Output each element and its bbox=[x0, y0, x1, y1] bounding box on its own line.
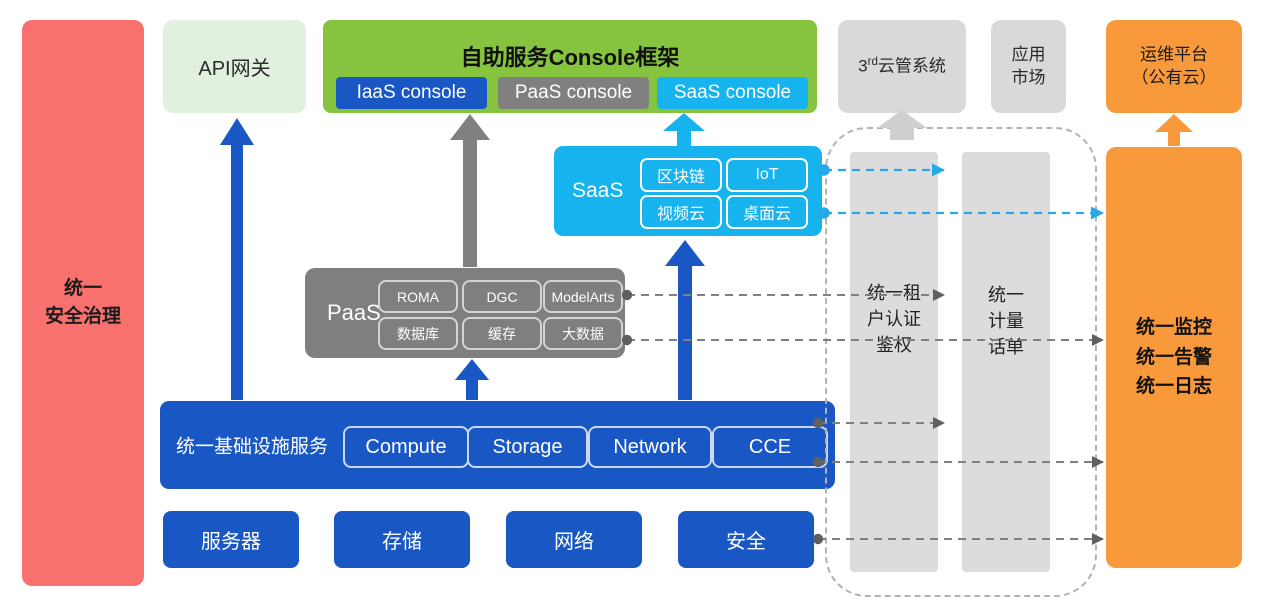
governance-line-1: 统一 bbox=[64, 275, 102, 303]
saas-console-label: SaaS console bbox=[674, 82, 791, 104]
third-party-superscript: rd bbox=[868, 56, 878, 68]
infrastructure-label: 统一基础设施服务 bbox=[176, 432, 328, 459]
third-party-cloud-mgmt-box[interactable]: 3rd云管系统 bbox=[838, 20, 966, 113]
paas-chip-bigdata-label: 大数据 bbox=[562, 324, 604, 344]
unified-billing-text: 统一 计量 话单 bbox=[962, 282, 1050, 360]
auth-line-3: 鉴权 bbox=[850, 332, 938, 358]
billing-line-2: 计量 bbox=[962, 308, 1050, 334]
infra-chip-compute-label: Compute bbox=[365, 436, 446, 459]
resource-box-security[interactable]: 安全 bbox=[678, 511, 814, 568]
monitoring-line-3: 统一日志 bbox=[1136, 372, 1212, 401]
resource-network-label: 网络 bbox=[554, 525, 594, 554]
unified-monitoring-column[interactable]: 统一监控 统一告警 统一日志 bbox=[1106, 147, 1242, 568]
resource-security-label: 安全 bbox=[726, 525, 766, 554]
saas-chip-desktopcloud[interactable]: 桌面云 bbox=[726, 195, 808, 229]
arrow-monitoring-to-ops-platform bbox=[1155, 114, 1193, 146]
paas-chip-modelarts-label: ModelArts bbox=[551, 289, 614, 305]
saas-chip-desktopcloud-label: 桌面云 bbox=[743, 200, 791, 224]
paas-console-label: PaaS console bbox=[515, 82, 632, 104]
infra-chip-network[interactable]: Network bbox=[588, 426, 712, 468]
infra-chip-compute[interactable]: Compute bbox=[343, 426, 469, 468]
governance-line-2: 安全治理 bbox=[45, 303, 121, 331]
resource-server-label: 服务器 bbox=[201, 525, 261, 554]
paas-chip-modelarts[interactable]: ModelArts bbox=[543, 280, 623, 313]
saas-chip-videocloud-label: 视频云 bbox=[657, 200, 705, 224]
paas-chip-dgc[interactable]: DGC bbox=[462, 280, 542, 313]
iaas-console-chip[interactable]: IaaS console bbox=[336, 77, 487, 109]
app-market-line-1: 应用 bbox=[1012, 44, 1046, 67]
paas-box: PaaS ROMA DGC ModelArts 数据库 缓存 大数据 bbox=[305, 268, 625, 358]
saas-label: SaaS bbox=[572, 179, 623, 203]
paas-chip-database[interactable]: 数据库 bbox=[378, 317, 458, 350]
arrow-paas-to-console bbox=[450, 114, 490, 267]
infra-chip-cce[interactable]: CCE bbox=[712, 426, 828, 468]
saas-box: SaaS 区块链 IoT 视频云 桌面云 bbox=[554, 146, 822, 236]
unified-tenant-auth-text: 统一租 户认证 鉴权 bbox=[850, 280, 938, 358]
paas-chip-dgc-label: DGC bbox=[486, 289, 517, 305]
third-party-prefix: 3 bbox=[858, 56, 867, 75]
saas-chip-iot-label: IoT bbox=[755, 166, 778, 184]
infra-chip-network-label: Network bbox=[613, 436, 686, 459]
app-market-line-2: 市场 bbox=[1012, 67, 1046, 90]
api-gateway-box[interactable]: API网关 bbox=[163, 20, 306, 113]
paas-chip-bigdata[interactable]: 大数据 bbox=[543, 317, 623, 350]
unified-billing-column[interactable]: 统一 计量 话单 bbox=[962, 152, 1050, 572]
auth-line-2: 户认证 bbox=[850, 306, 938, 332]
paas-chip-cache-label: 缓存 bbox=[488, 324, 516, 344]
saas-chip-iot[interactable]: IoT bbox=[726, 158, 808, 192]
saas-console-chip[interactable]: SaaS console bbox=[657, 77, 808, 109]
ops-platform-line-1: 运维平台 bbox=[1140, 44, 1208, 67]
api-gateway-label: API网关 bbox=[198, 52, 270, 81]
ops-platform-box[interactable]: 运维平台 （公有云） bbox=[1106, 20, 1242, 113]
infra-chip-storage-label: Storage bbox=[492, 436, 562, 459]
arrow-infra-to-paas bbox=[455, 359, 489, 400]
saas-chip-blockchain-label: 区块链 bbox=[657, 163, 705, 187]
self-service-console-frame: 自助服务Console框架 IaaS console PaaS console … bbox=[323, 20, 817, 113]
resource-box-server[interactable]: 服务器 bbox=[163, 511, 299, 568]
third-party-suffix: 云管系统 bbox=[878, 56, 946, 75]
billing-line-1: 统一 bbox=[962, 282, 1050, 308]
arrow-saas-to-saas-console bbox=[663, 113, 705, 146]
paas-chip-cache[interactable]: 缓存 bbox=[462, 317, 542, 350]
arrow-infra-to-api-gateway bbox=[220, 118, 254, 400]
third-party-cloud-label: 3rd云管系统 bbox=[858, 55, 946, 79]
ops-platform-line-2: （公有云） bbox=[1132, 67, 1217, 90]
saas-chip-videocloud[interactable]: 视频云 bbox=[640, 195, 722, 229]
monitoring-line-1: 统一监控 bbox=[1136, 313, 1212, 342]
console-frame-title: 自助服务Console框架 bbox=[323, 40, 817, 72]
app-market-box[interactable]: 应用 市场 bbox=[991, 20, 1066, 113]
paas-label: PaaS bbox=[327, 300, 381, 326]
unified-security-governance-column: 统一 安全治理 bbox=[22, 20, 144, 586]
resource-box-storage[interactable]: 存储 bbox=[334, 511, 470, 568]
resource-storage-label: 存储 bbox=[382, 525, 422, 554]
paas-chip-database-label: 数据库 bbox=[397, 324, 439, 344]
architecture-diagram: 统一 安全治理 API网关 自助服务Console框架 IaaS console… bbox=[0, 0, 1265, 605]
auth-line-1: 统一租 bbox=[850, 280, 938, 306]
unified-infrastructure-bar: 统一基础设施服务 Compute Storage Network CCE bbox=[160, 401, 835, 489]
paas-chip-roma[interactable]: ROMA bbox=[378, 280, 458, 313]
paas-console-chip[interactable]: PaaS console bbox=[498, 77, 649, 109]
resource-box-network[interactable]: 网络 bbox=[506, 511, 642, 568]
infra-chip-cce-label: CCE bbox=[749, 436, 791, 459]
unified-tenant-auth-column[interactable]: 统一租 户认证 鉴权 bbox=[850, 152, 938, 572]
billing-line-3: 话单 bbox=[962, 334, 1050, 360]
arrow-infra-to-saas bbox=[665, 240, 705, 400]
infra-chip-storage[interactable]: Storage bbox=[467, 426, 588, 468]
monitoring-line-2: 统一告警 bbox=[1136, 343, 1212, 372]
iaas-console-label: IaaS console bbox=[357, 82, 467, 104]
paas-chip-roma-label: ROMA bbox=[397, 289, 439, 305]
saas-chip-blockchain[interactable]: 区块链 bbox=[640, 158, 722, 192]
